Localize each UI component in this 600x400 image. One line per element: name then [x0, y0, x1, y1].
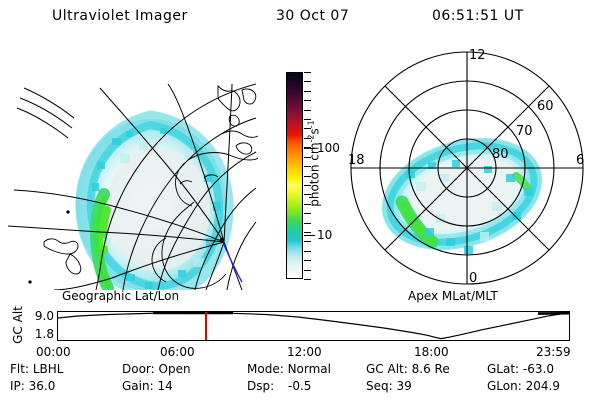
- mlt-label-12: 12: [469, 48, 486, 63]
- mlt-label-0: 0: [469, 271, 477, 286]
- status-gain: Gain: 14: [122, 379, 173, 393]
- apex-polar-grid: [351, 52, 583, 284]
- status-mode: Mode: Normal: [247, 362, 331, 376]
- status-glat: GLat: -63.0: [487, 362, 554, 376]
- status-gain-value: 14: [157, 379, 172, 393]
- observation-time: 06:51:51 UT: [432, 8, 524, 24]
- satellite-position-marker: [220, 238, 225, 243]
- colorbar-tick: [304, 279, 311, 280]
- status-glon-value: 204.9: [526, 379, 560, 393]
- mlat-label-70: 70: [516, 124, 533, 139]
- status-flt-value: LBHL: [33, 362, 64, 376]
- geographic-plot: [8, 42, 258, 290]
- mlt-label-18: 18: [348, 153, 365, 168]
- orbit-xtick-1800: 18:00: [414, 345, 449, 359]
- header-bar: Ultraviolet Imager 30 Oct 07 06:51:51 UT: [0, 4, 600, 30]
- status-glat-value: -63.0: [523, 362, 554, 376]
- colorbar-axis-title: photon cm-2s-1: [307, 79, 322, 249]
- colorbar-tick: [304, 251, 311, 252]
- status-seq: Seq: 39: [366, 379, 412, 393]
- orbit-ytick-high: 9.0: [20, 309, 54, 323]
- status-door: Door: Open: [122, 362, 191, 376]
- status-dsp-value: -0.5: [288, 379, 311, 393]
- colorbar-tick: [304, 270, 311, 271]
- geographic-image-panel[interactable]: Geographic Lat/Lon: [8, 42, 258, 290]
- status-ip: IP: 36.0: [10, 379, 55, 393]
- status-seq-label: Seq:: [366, 379, 393, 393]
- orbit-xtick-1200: 12:00: [287, 345, 322, 359]
- mlat-label-60: 60: [537, 99, 554, 114]
- orbit-altitude-curve: [58, 312, 569, 340]
- colorbar[interactable]: photon cm-2s-1: [286, 72, 303, 279]
- status-glon-label: GLon:: [487, 379, 522, 393]
- mlat-label-80: 80: [492, 147, 509, 162]
- orbit-altitude-plot[interactable]: [57, 311, 570, 341]
- orbit-xtick-2359: 23:59: [536, 345, 571, 359]
- current-time-marker: [205, 312, 207, 340]
- left-panel-title: Geographic Lat/Lon: [62, 289, 179, 303]
- status-flt: Flt: LBHL: [10, 362, 63, 376]
- mlt-label-6: 6: [576, 153, 584, 168]
- gc-alt-trace: [58, 313, 569, 339]
- apex-polar-plot: 12 18 6 0 60 70 80: [340, 42, 594, 290]
- orbit-xtick-0000: 00:00: [36, 345, 71, 359]
- status-flt-label: Flt:: [10, 362, 29, 376]
- status-door-value: Open: [159, 362, 191, 376]
- status-dsp: Dsp: -0.5: [247, 379, 311, 393]
- observation-date: 30 Oct 07: [276, 8, 349, 24]
- status-mode-value: Normal: [288, 362, 331, 376]
- apex-aurora-emission: [368, 120, 555, 267]
- orbit-ytick-low: 1.8: [20, 327, 54, 341]
- status-gcalt-label: GC Alt:: [366, 362, 408, 376]
- status-gcalt-value: 8.6 Re: [412, 362, 450, 376]
- status-dsp-label: Dsp:: [247, 379, 274, 393]
- status-glat-label: GLat:: [487, 362, 519, 376]
- status-gcalt: GC Alt: 8.6 Re: [366, 362, 450, 376]
- status-ip-label: IP:: [10, 379, 25, 393]
- instrument-title: Ultraviolet Imager: [52, 8, 188, 24]
- right-panel-title: Apex MLat/MLT: [408, 289, 498, 303]
- colorbar-gradient: [286, 72, 303, 279]
- colorbar-tick: [304, 260, 311, 261]
- status-glon: GLon: 204.9: [487, 379, 560, 393]
- status-mode-label: Mode:: [247, 362, 284, 376]
- status-door-label: Door:: [122, 362, 155, 376]
- status-ip-value: 36.0: [29, 379, 56, 393]
- orbit-xtick-0600: 06:00: [160, 345, 195, 359]
- colorbar-tick: [304, 72, 311, 73]
- status-seq-value: 39: [397, 379, 412, 393]
- status-gain-label: Gain:: [122, 379, 154, 393]
- apex-image-panel[interactable]: 12 18 6 0 60 70 80 Apex MLat/MLT: [340, 42, 594, 290]
